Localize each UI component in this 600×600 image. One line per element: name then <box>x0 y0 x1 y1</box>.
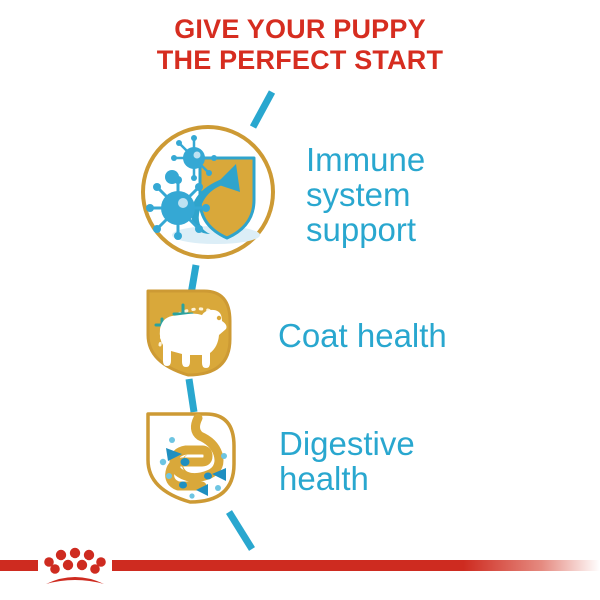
benefit-label-coat: Coat health <box>278 318 447 353</box>
footer-rule-right <box>112 560 600 571</box>
page-title: GIVE YOUR PUPPY THE PERFECT START <box>0 14 600 76</box>
benefit-label-immune: Immune system support <box>306 142 425 247</box>
coat-health-dog-shield-icon <box>138 283 238 388</box>
benefit-item-immune: Immune system support <box>138 122 425 267</box>
royal-canin-crown-logo <box>38 543 112 588</box>
benefit-item-digestive: Digestive health <box>138 406 415 516</box>
headline-line-2: THE PERFECT START <box>0 45 600 76</box>
immune-shield-virus-icon <box>138 122 278 267</box>
headline-line-1: GIVE YOUR PUPPY <box>0 14 600 45</box>
benefit-item-coat: Coat health <box>138 283 447 388</box>
digestive-health-stomach-icon <box>138 406 243 516</box>
benefit-label-digestive: Digestive health <box>279 426 415 496</box>
promo-panel: GIVE YOUR PUPPY THE PERFECT START <box>0 0 600 600</box>
footer-rule-left <box>0 560 38 571</box>
